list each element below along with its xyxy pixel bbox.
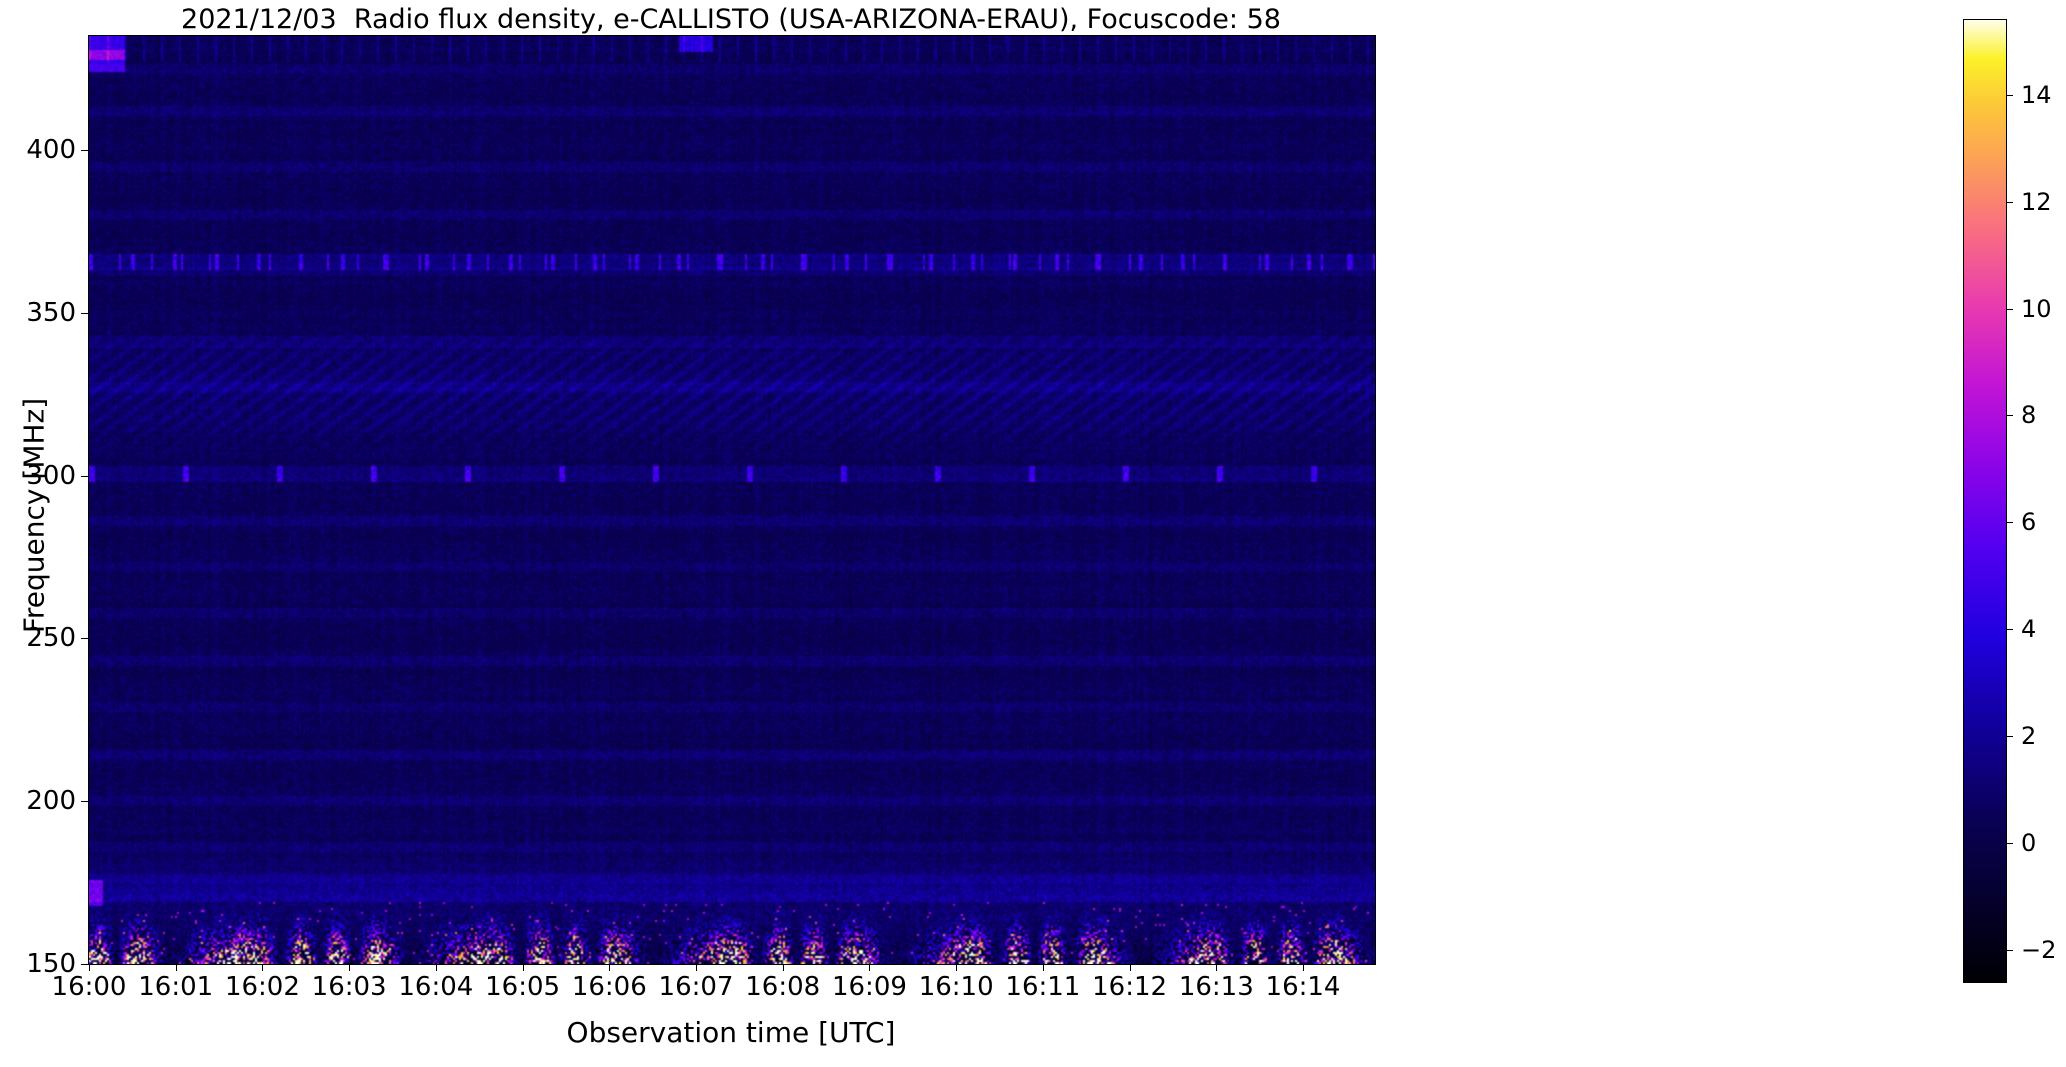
x-tick-mark bbox=[956, 964, 957, 971]
x-tick-label: 16:12 bbox=[1092, 972, 1167, 1002]
y-axis-label: Frequency [MHz] bbox=[18, 266, 51, 766]
x-tick-label: 16:01 bbox=[138, 972, 213, 1002]
colorbar-tick-mark bbox=[2006, 415, 2013, 416]
x-tick-mark bbox=[1303, 964, 1304, 971]
y-tick-mark bbox=[81, 964, 88, 965]
x-tick-mark bbox=[262, 964, 263, 971]
x-tick-mark bbox=[1216, 964, 1217, 971]
x-tick-label: 16:14 bbox=[1266, 972, 1341, 1002]
colorbar-tick-mark bbox=[2006, 522, 2013, 523]
y-tick-label: 350 bbox=[26, 298, 76, 328]
x-tick-mark bbox=[783, 964, 784, 971]
x-tick-mark bbox=[609, 964, 610, 971]
x-tick-mark bbox=[1043, 964, 1044, 971]
y-tick-mark bbox=[81, 150, 88, 151]
x-tick-label: 16:04 bbox=[398, 972, 473, 1002]
y-tick-mark bbox=[81, 638, 88, 639]
x-axis-label: Observation time [UTC] bbox=[88, 1016, 1374, 1049]
y-tick-mark bbox=[81, 801, 88, 802]
spectrogram-axes bbox=[88, 35, 1376, 965]
y-tick-mark bbox=[81, 476, 88, 477]
colorbar-tick-label: 10 bbox=[2021, 295, 2052, 323]
colorbar-tick-label: 14 bbox=[2021, 81, 2052, 109]
x-tick-mark bbox=[1130, 964, 1131, 971]
x-tick-mark bbox=[523, 964, 524, 971]
x-tick-label: 16:03 bbox=[312, 972, 387, 1002]
x-tick-label: 16:00 bbox=[52, 972, 127, 1002]
x-tick-mark bbox=[436, 964, 437, 971]
colorbar-tick-label: 2 bbox=[2021, 722, 2036, 750]
x-tick-label: 16:13 bbox=[1179, 972, 1254, 1002]
colorbar-tick-mark bbox=[2006, 202, 2013, 203]
x-tick-label: 16:02 bbox=[225, 972, 300, 1002]
x-tick-label: 16:09 bbox=[832, 972, 907, 1002]
x-tick-label: 16:05 bbox=[485, 972, 560, 1002]
colorbar-tick-label: −2 bbox=[2021, 936, 2056, 964]
y-tick-label: 200 bbox=[26, 786, 76, 816]
y-tick-mark bbox=[81, 313, 88, 314]
x-tick-label: 16:07 bbox=[659, 972, 734, 1002]
colorbar-tick-mark bbox=[2006, 950, 2013, 951]
x-tick-label: 16:11 bbox=[1005, 972, 1080, 1002]
colorbar bbox=[1963, 19, 2007, 983]
colorbar-tick-label: 8 bbox=[2021, 401, 2036, 429]
colorbar-tick-label: 4 bbox=[2021, 615, 2036, 643]
x-tick-mark bbox=[869, 964, 870, 971]
y-tick-label: 300 bbox=[26, 461, 76, 491]
x-tick-label: 16:08 bbox=[745, 972, 820, 1002]
x-tick-label: 16:10 bbox=[919, 972, 994, 1002]
y-tick-label: 400 bbox=[26, 135, 76, 165]
x-tick-mark bbox=[349, 964, 350, 971]
x-tick-mark bbox=[89, 964, 90, 971]
colorbar-gradient bbox=[1964, 20, 2006, 982]
x-tick-mark bbox=[696, 964, 697, 971]
colorbar-tick-mark bbox=[2006, 629, 2013, 630]
x-tick-label: 16:06 bbox=[572, 972, 647, 1002]
colorbar-tick-mark bbox=[2006, 309, 2013, 310]
colorbar-tick-mark bbox=[2006, 843, 2013, 844]
page-title: 2021/12/03 Radio flux density, e-CALLIST… bbox=[88, 4, 1374, 36]
y-tick-label: 250 bbox=[26, 623, 76, 653]
colorbar-tick-label: 0 bbox=[2021, 829, 2036, 857]
x-tick-mark bbox=[176, 964, 177, 971]
colorbar-tick-mark bbox=[2006, 736, 2013, 737]
colorbar-tick-mark bbox=[2006, 95, 2013, 96]
spectrogram-image bbox=[89, 36, 1375, 964]
colorbar-tick-label: 12 bbox=[2021, 188, 2052, 216]
spectrogram-figure: 2021/12/03 Radio flux density, e-CALLIST… bbox=[0, 0, 2066, 1067]
colorbar-tick-label: 6 bbox=[2021, 508, 2036, 536]
